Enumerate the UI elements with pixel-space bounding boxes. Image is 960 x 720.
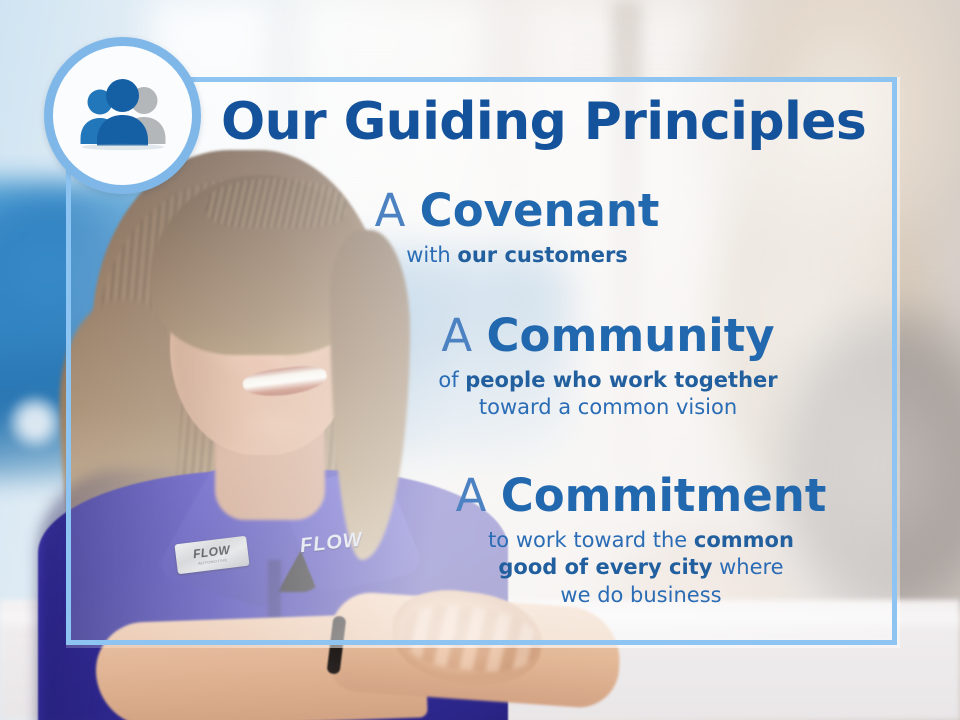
detail-emphasis: good of every city (498, 555, 712, 579)
principle-article: A (456, 469, 501, 522)
principle-community: A Community of people who work togethert… (358, 312, 858, 422)
principle-commitment: A Commitment to work toward the commongo… (406, 472, 876, 610)
principle-detail: of people who work togethertoward a comm… (358, 367, 858, 422)
guiding-principles-banner: FLOW AUTOMOTIVE FLOW (0, 0, 960, 720)
detail-text: toward a common vision (479, 395, 737, 419)
principle-article: A (441, 309, 486, 362)
principle-detail-line: to work toward the common (406, 527, 876, 555)
detail-text: with (406, 243, 457, 267)
detail-text: we do business (560, 583, 721, 607)
principle-heading: A Covenant (282, 187, 752, 235)
principle-keyword: Covenant (420, 184, 660, 237)
principle-article: A (375, 184, 420, 237)
detail-text: where (712, 555, 783, 579)
principle-covenant: A Covenant with our customers (282, 187, 752, 269)
principle-detail-line: of people who work together (358, 367, 858, 395)
principles-content: Our Guiding Principles A Covenant with o… (66, 77, 897, 645)
principle-detail-line: toward a common vision (358, 394, 858, 422)
detail-text: of (438, 368, 465, 392)
principle-keyword: Community (487, 309, 775, 362)
detail-emphasis: our customers (457, 243, 627, 267)
principle-heading: A Community (358, 312, 858, 360)
detail-text: to work toward the (488, 528, 694, 552)
principle-detail-line: good of every city where (406, 554, 876, 582)
principle-detail-line: with our customers (282, 242, 752, 270)
principle-keyword: Commitment (501, 469, 827, 522)
page-title: Our Guiding Principles (221, 96, 861, 148)
detail-emphasis: people who work together (465, 368, 777, 392)
detail-emphasis: common (694, 528, 794, 552)
principle-heading: A Commitment (406, 472, 876, 520)
principle-detail: to work toward the commongood of every c… (406, 527, 876, 610)
principle-detail-line: we do business (406, 582, 876, 610)
principle-detail: with our customers (282, 242, 752, 270)
